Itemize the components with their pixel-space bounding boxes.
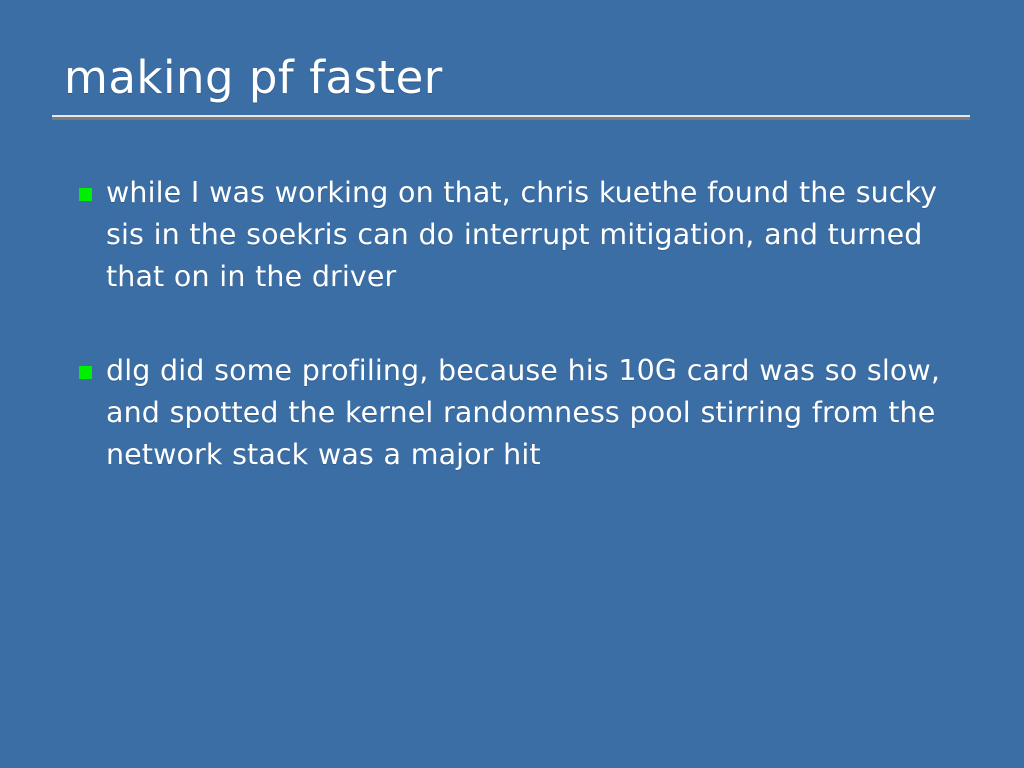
green-square-bullet-icon (79, 366, 92, 379)
list-item-text: dlg did some profiling, because his 10G … (106, 354, 940, 471)
page-title: making pf faster (52, 50, 970, 106)
title-divider (52, 115, 970, 120)
green-square-bullet-icon (79, 188, 92, 201)
list-item: dlg did some profiling, because his 10G … (70, 350, 960, 476)
list-item-text: while I was working on that, chris kueth… (106, 176, 937, 293)
divider-shadow-line (52, 117, 970, 120)
slide-body: while I was working on that, chris kueth… (70, 172, 960, 476)
slide-title-block: making pf faster (52, 50, 970, 106)
presentation-slide: making pf faster while I was working on … (0, 0, 1024, 768)
list-item: while I was working on that, chris kueth… (70, 172, 960, 298)
